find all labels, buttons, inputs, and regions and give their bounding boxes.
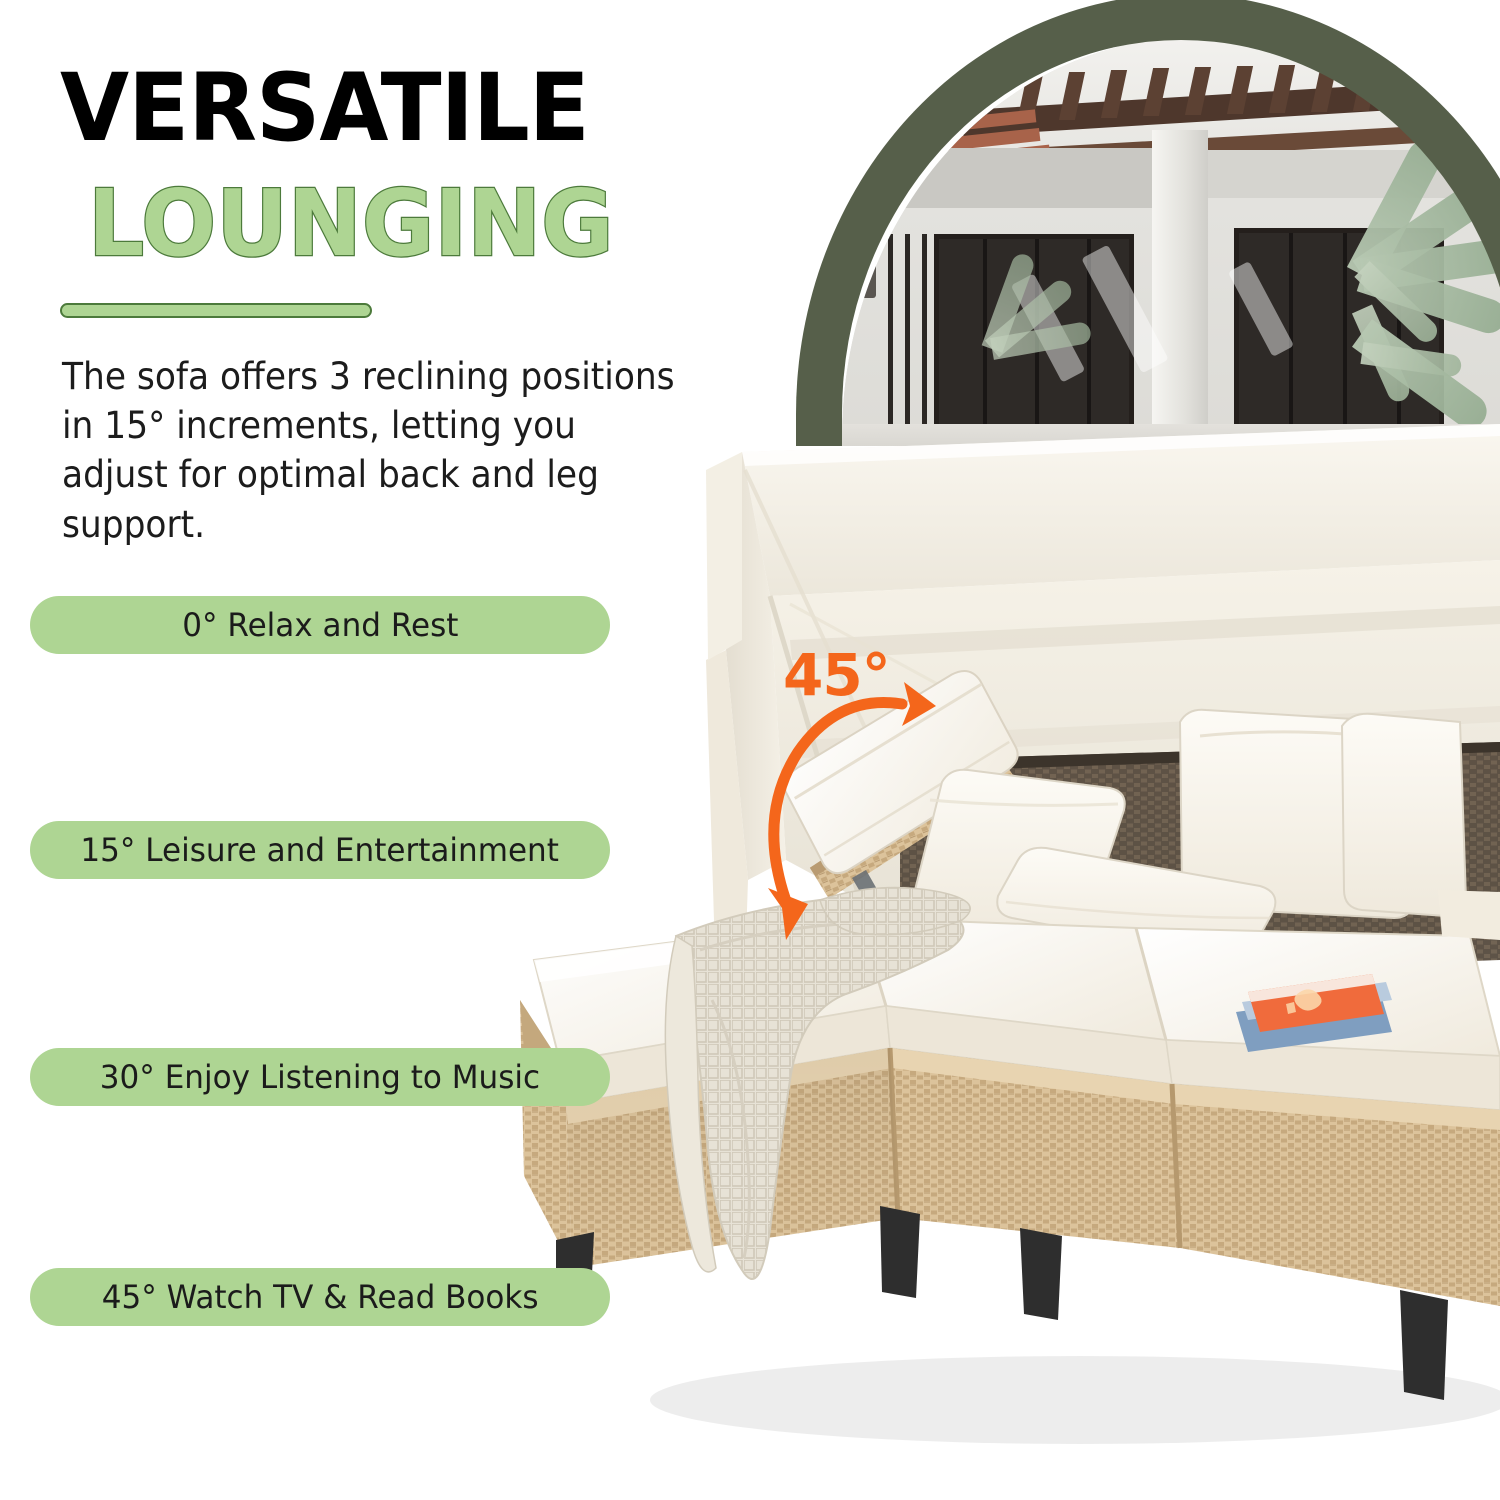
divider-rule	[60, 303, 372, 318]
arc-scene-frame	[796, 0, 1500, 446]
feature-pill-30-degrees[interactable]: 30° Enjoy Listening to Music	[30, 1048, 610, 1106]
villa-background-photo	[842, 38, 1500, 446]
feature-pill-label: 45° Watch TV & Read Books	[102, 1278, 539, 1316]
wall-sconce-icon	[860, 250, 876, 298]
angle-value-label: 45°	[783, 641, 890, 709]
marketing-infographic: 45° VERSATILE LOUNGING The sofa offers 3…	[0, 0, 1500, 1500]
body-paragraph: The sofa offers 3 reclining positions in…	[62, 352, 676, 549]
feature-pill-label: 0° Relax and Rest	[182, 606, 458, 644]
headline-secondary: LOUNGING	[88, 178, 614, 270]
headline-primary: VERSATILE	[60, 62, 589, 156]
balcony-parapet	[842, 424, 1500, 446]
window-railing	[888, 234, 932, 446]
feature-pill-label: 30° Enjoy Listening to Music	[100, 1058, 540, 1096]
feature-pill-15-degrees[interactable]: 15° Leisure and Entertainment	[30, 821, 610, 879]
feature-pill-0-degrees[interactable]: 0° Relax and Rest	[30, 596, 610, 654]
ceiling-soffit	[842, 148, 1172, 208]
stucco-column	[1152, 130, 1208, 446]
feature-pill-45-degrees[interactable]: 45° Watch TV & Read Books	[30, 1268, 610, 1326]
feature-pill-label: 15° Leisure and Entertainment	[81, 831, 559, 869]
